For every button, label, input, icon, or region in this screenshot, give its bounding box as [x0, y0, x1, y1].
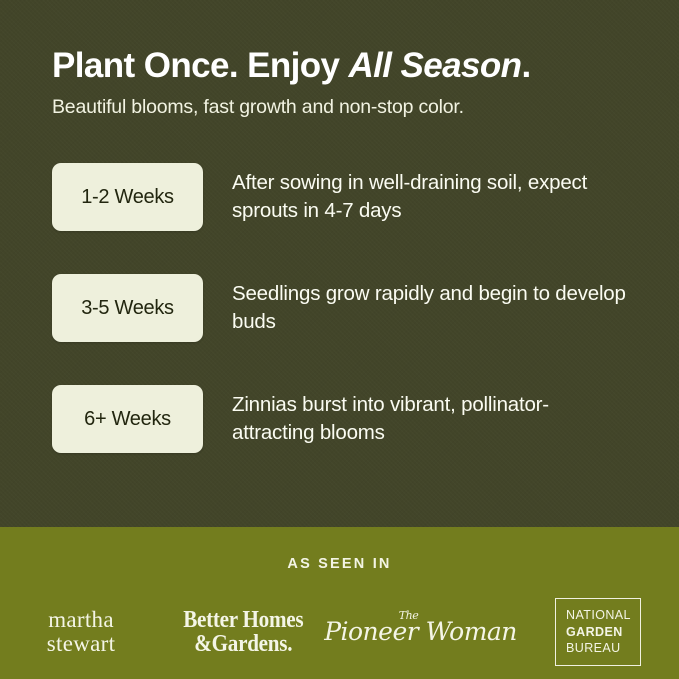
as-seen-in-band: AS SEEN IN martha stewart Better Homes &…	[0, 527, 679, 679]
headline-italic-part: All Season	[349, 46, 522, 85]
headline-part-1: Plant Once. Enjoy	[52, 46, 349, 85]
list-item: 6+ Weeks Zinnias burst into vibrant, pol…	[52, 385, 627, 453]
logo-martha-stewart: martha stewart	[0, 608, 162, 655]
ngb-line-2: GARDEN	[566, 624, 631, 641]
logo-the-pioneer-woman: The Pioneer Woman	[324, 619, 517, 645]
logo-national-garden-bureau: NATIONAL GARDEN BUREAU	[517, 598, 679, 666]
timeline-badge-3: 6+ Weeks	[52, 385, 203, 453]
page-title: Plant Once. Enjoy All Season.	[52, 46, 627, 85]
list-item: 1-2 Weeks After sowing in well-draining …	[52, 163, 627, 231]
timeline-badge-2: 3-5 Weeks	[52, 274, 203, 342]
timeline-description-1: After sowing in well-draining soil, expe…	[232, 169, 627, 226]
timeline-list: 1-2 Weeks After sowing in well-draining …	[52, 163, 627, 453]
bhg-line-2: &Gardens.	[183, 632, 303, 656]
publication-logo-row: martha stewart Better Homes &Gardens. Th…	[0, 598, 679, 666]
timeline-description-3: Zinnias burst into vibrant, pollinator-a…	[232, 391, 627, 448]
ngb-line-1: NATIONAL	[566, 607, 631, 624]
promo-card: Plant Once. Enjoy All Season. Beautiful …	[0, 0, 679, 679]
martha-stewart-line-2: stewart	[47, 631, 116, 656]
list-item: 3-5 Weeks Seedlings grow rapidly and beg…	[52, 274, 627, 342]
headline-part-2: .	[521, 46, 530, 85]
pioneer-woman-name: Pioneer Woman	[324, 617, 517, 646]
martha-stewart-line-1: martha	[48, 607, 114, 632]
as-seen-in-label: AS SEEN IN	[287, 556, 391, 572]
timeline-badge-1: 1-2 Weeks	[52, 163, 203, 231]
pioneer-woman-the: The	[399, 610, 418, 621]
ngb-line-3: BUREAU	[566, 640, 631, 657]
logo-better-homes-and-gardens: Better Homes &Gardens.	[162, 608, 324, 656]
bhg-line-1: Better Homes	[183, 607, 303, 633]
hero-panel: Plant Once. Enjoy All Season. Beautiful …	[0, 0, 679, 527]
subtitle: Beautiful blooms, fast growth and non-st…	[52, 96, 627, 119]
timeline-description-2: Seedlings grow rapidly and begin to deve…	[232, 280, 627, 337]
